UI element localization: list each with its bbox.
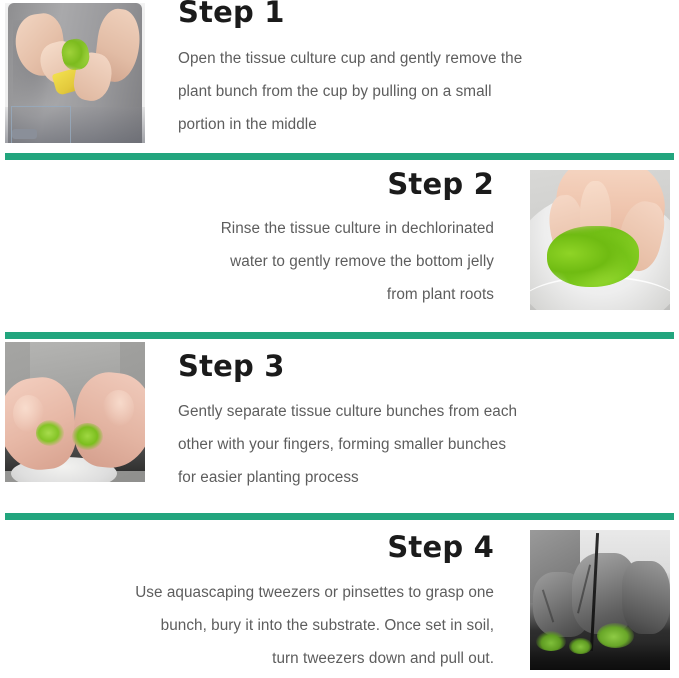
right-knuckle-highlight: [103, 390, 134, 426]
step-4-description: Use aquascaping tweezers or pinsettes to…: [0, 576, 494, 675]
step-1-description-line-2: plant bunch from the cup by pulling on a…: [178, 75, 619, 108]
step-4-description-line-3: turn tweezers down and pull out.: [26, 642, 494, 675]
right-plant-bunch-shape: [72, 423, 103, 450]
step-section-1: Step 1 Open the tissue culture cup and g…: [0, 0, 679, 153]
step-3-description-line-1: Gently separate tissue culture bunches f…: [178, 395, 613, 428]
step-2-image: [530, 170, 670, 310]
step-3-image: [5, 342, 145, 482]
step-3-description-line-2: other with your fingers, forming smaller…: [178, 428, 613, 461]
step-section-3: Step 3 Gently separate tissue culture bu…: [0, 339, 679, 513]
divider-after-step-3: [5, 513, 674, 520]
step-3-body: Step 3 Gently separate tissue culture bu…: [145, 339, 679, 494]
divider-after-step-1: [5, 153, 674, 160]
planted-bunch-b: [597, 623, 633, 648]
step-4-image: [530, 530, 670, 670]
rock-shape-c: [622, 561, 670, 634]
step-3-title: Step 3: [178, 350, 679, 383]
step-1-body: Step 1 Open the tissue culture cup and g…: [145, 0, 679, 141]
step-1-title: Step 1: [178, 0, 679, 29]
step-3-description: Gently separate tissue culture bunches f…: [178, 395, 679, 494]
step-2-description-line-1: Rinse the tissue culture in dechlorinate…: [120, 212, 494, 245]
step-2-title: Step 2: [0, 168, 494, 201]
planting-steps-infographic: Step 1 Open the tissue culture cup and g…: [0, 0, 679, 678]
step-2-description-line-3: from plant roots: [120, 278, 494, 311]
step-2-body: Step 2 Rinse the tissue culture in dechl…: [0, 160, 530, 311]
planted-bunch-a: [536, 631, 567, 651]
step-1-description-line-3: portion in the middle: [178, 108, 619, 141]
step-2-description: Rinse the tissue culture in dechlorinate…: [0, 212, 494, 311]
step-3-description-line-3: for easier planting process: [178, 461, 613, 494]
planted-bunch-c: [569, 638, 591, 653]
step-1-description-line-1: Open the tissue culture cup and gently r…: [178, 42, 619, 75]
step-2-description-line-2: water to gently remove the bottom jelly: [120, 245, 494, 278]
step-section-2: Step 2 Rinse the tissue culture in dechl…: [0, 160, 679, 332]
divider-after-step-2: [5, 332, 674, 339]
left-plant-bunch-shape: [36, 420, 64, 445]
step-1-description: Open the tissue culture cup and gently r…: [178, 42, 679, 141]
step-4-description-line-2: bunch, bury it into the substrate. Once …: [26, 609, 494, 642]
hands-separating-plant-bunches-photo: [5, 342, 145, 482]
step-1-image: [5, 3, 145, 143]
step-4-body: Step 4 Use aquascaping tweezers or pinse…: [0, 520, 530, 674]
aquascape-rocks-substrate-tweezers-photo: [530, 530, 670, 670]
hand-rinsing-tissue-culture-in-bowl-photo: [530, 170, 670, 310]
photo-frame-outline: [11, 106, 72, 143]
step-section-4: Step 4 Use aquascaping tweezers or pinse…: [0, 520, 679, 678]
step-4-description-line-1: Use aquascaping tweezers or pinsettes to…: [26, 576, 494, 609]
step-4-title: Step 4: [0, 531, 494, 564]
hands-opening-tissue-culture-cup-photo: [5, 3, 145, 143]
